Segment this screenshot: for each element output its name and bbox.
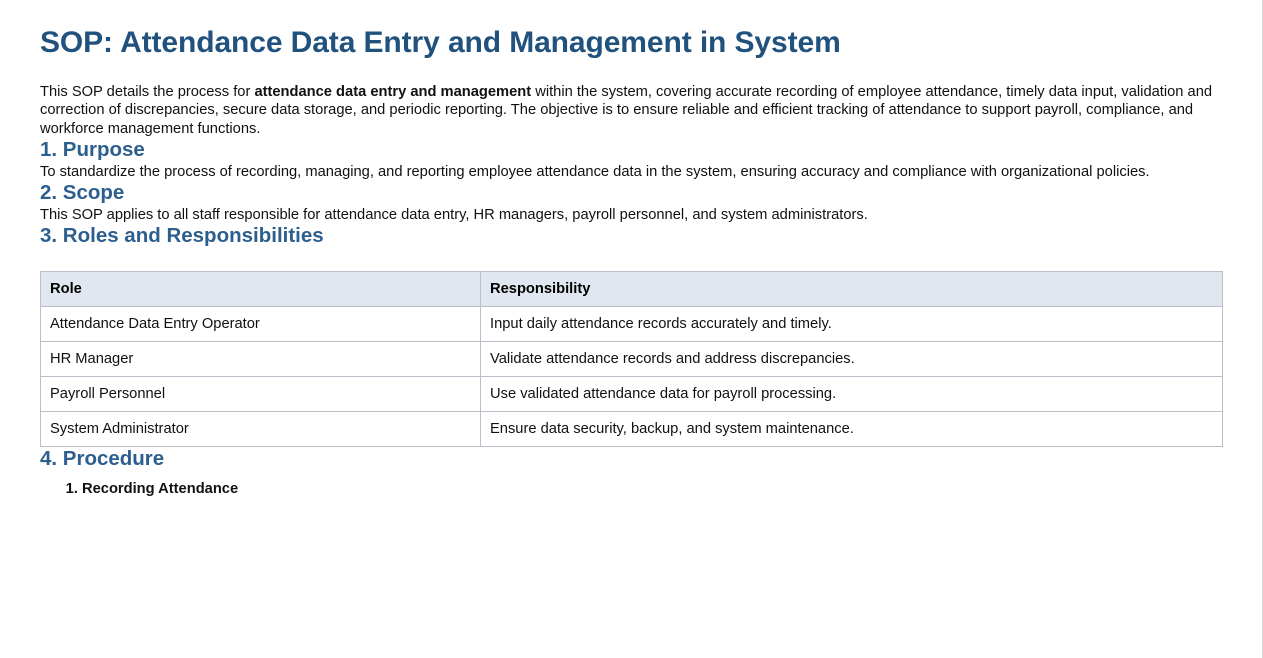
page-title: SOP: Attendance Data Entry and Managemen… (40, 26, 1222, 61)
section-heading-scope: 2. Scope (40, 181, 1222, 206)
section-body-scope: This SOP applies to all staff responsibl… (40, 206, 1222, 225)
document-page: SOP: Attendance Data Entry and Managemen… (0, 0, 1263, 658)
cell-role: System Administrator (41, 411, 481, 446)
section-body-purpose: To standardize the process of recording,… (40, 163, 1222, 182)
intro-paragraph: This SOP details the process for attenda… (40, 83, 1222, 139)
cell-role: Attendance Data Entry Operator (41, 306, 481, 341)
table-header-row: Role Responsibility (41, 271, 1223, 306)
cell-role: Payroll Personnel (41, 376, 481, 411)
cell-responsibility: Ensure data security, backup, and system… (481, 411, 1223, 446)
table-body: Attendance Data Entry Operator Input dai… (41, 306, 1223, 446)
table-row: HR Manager Validate attendance records a… (41, 341, 1223, 376)
cell-responsibility: Use validated attendance data for payrol… (481, 376, 1223, 411)
section-heading-roles: 3. Roles and Responsibilities (40, 224, 1222, 249)
cell-responsibility: Validate attendance records and address … (481, 341, 1223, 376)
roles-responsibilities-table: Role Responsibility Attendance Data Entr… (40, 271, 1223, 447)
section-heading-procedure: 4. Procedure (40, 447, 1222, 472)
cell-role: HR Manager (41, 341, 481, 376)
table-row: Attendance Data Entry Operator Input dai… (41, 306, 1223, 341)
list-item: Recording Attendance (82, 480, 1222, 499)
section-heading-purpose: 1. Purpose (40, 138, 1222, 163)
procedure-list: Recording Attendance (40, 480, 1222, 499)
table-row: System Administrator Ensure data securit… (41, 411, 1223, 446)
table-row: Payroll Personnel Use validated attendan… (41, 376, 1223, 411)
column-header-role: Role (41, 271, 481, 306)
intro-text-before: This SOP details the process for (40, 84, 254, 100)
column-header-responsibility: Responsibility (481, 271, 1223, 306)
intro-text-bold: attendance data entry and management (254, 84, 531, 100)
cell-responsibility: Input daily attendance records accuratel… (481, 306, 1223, 341)
